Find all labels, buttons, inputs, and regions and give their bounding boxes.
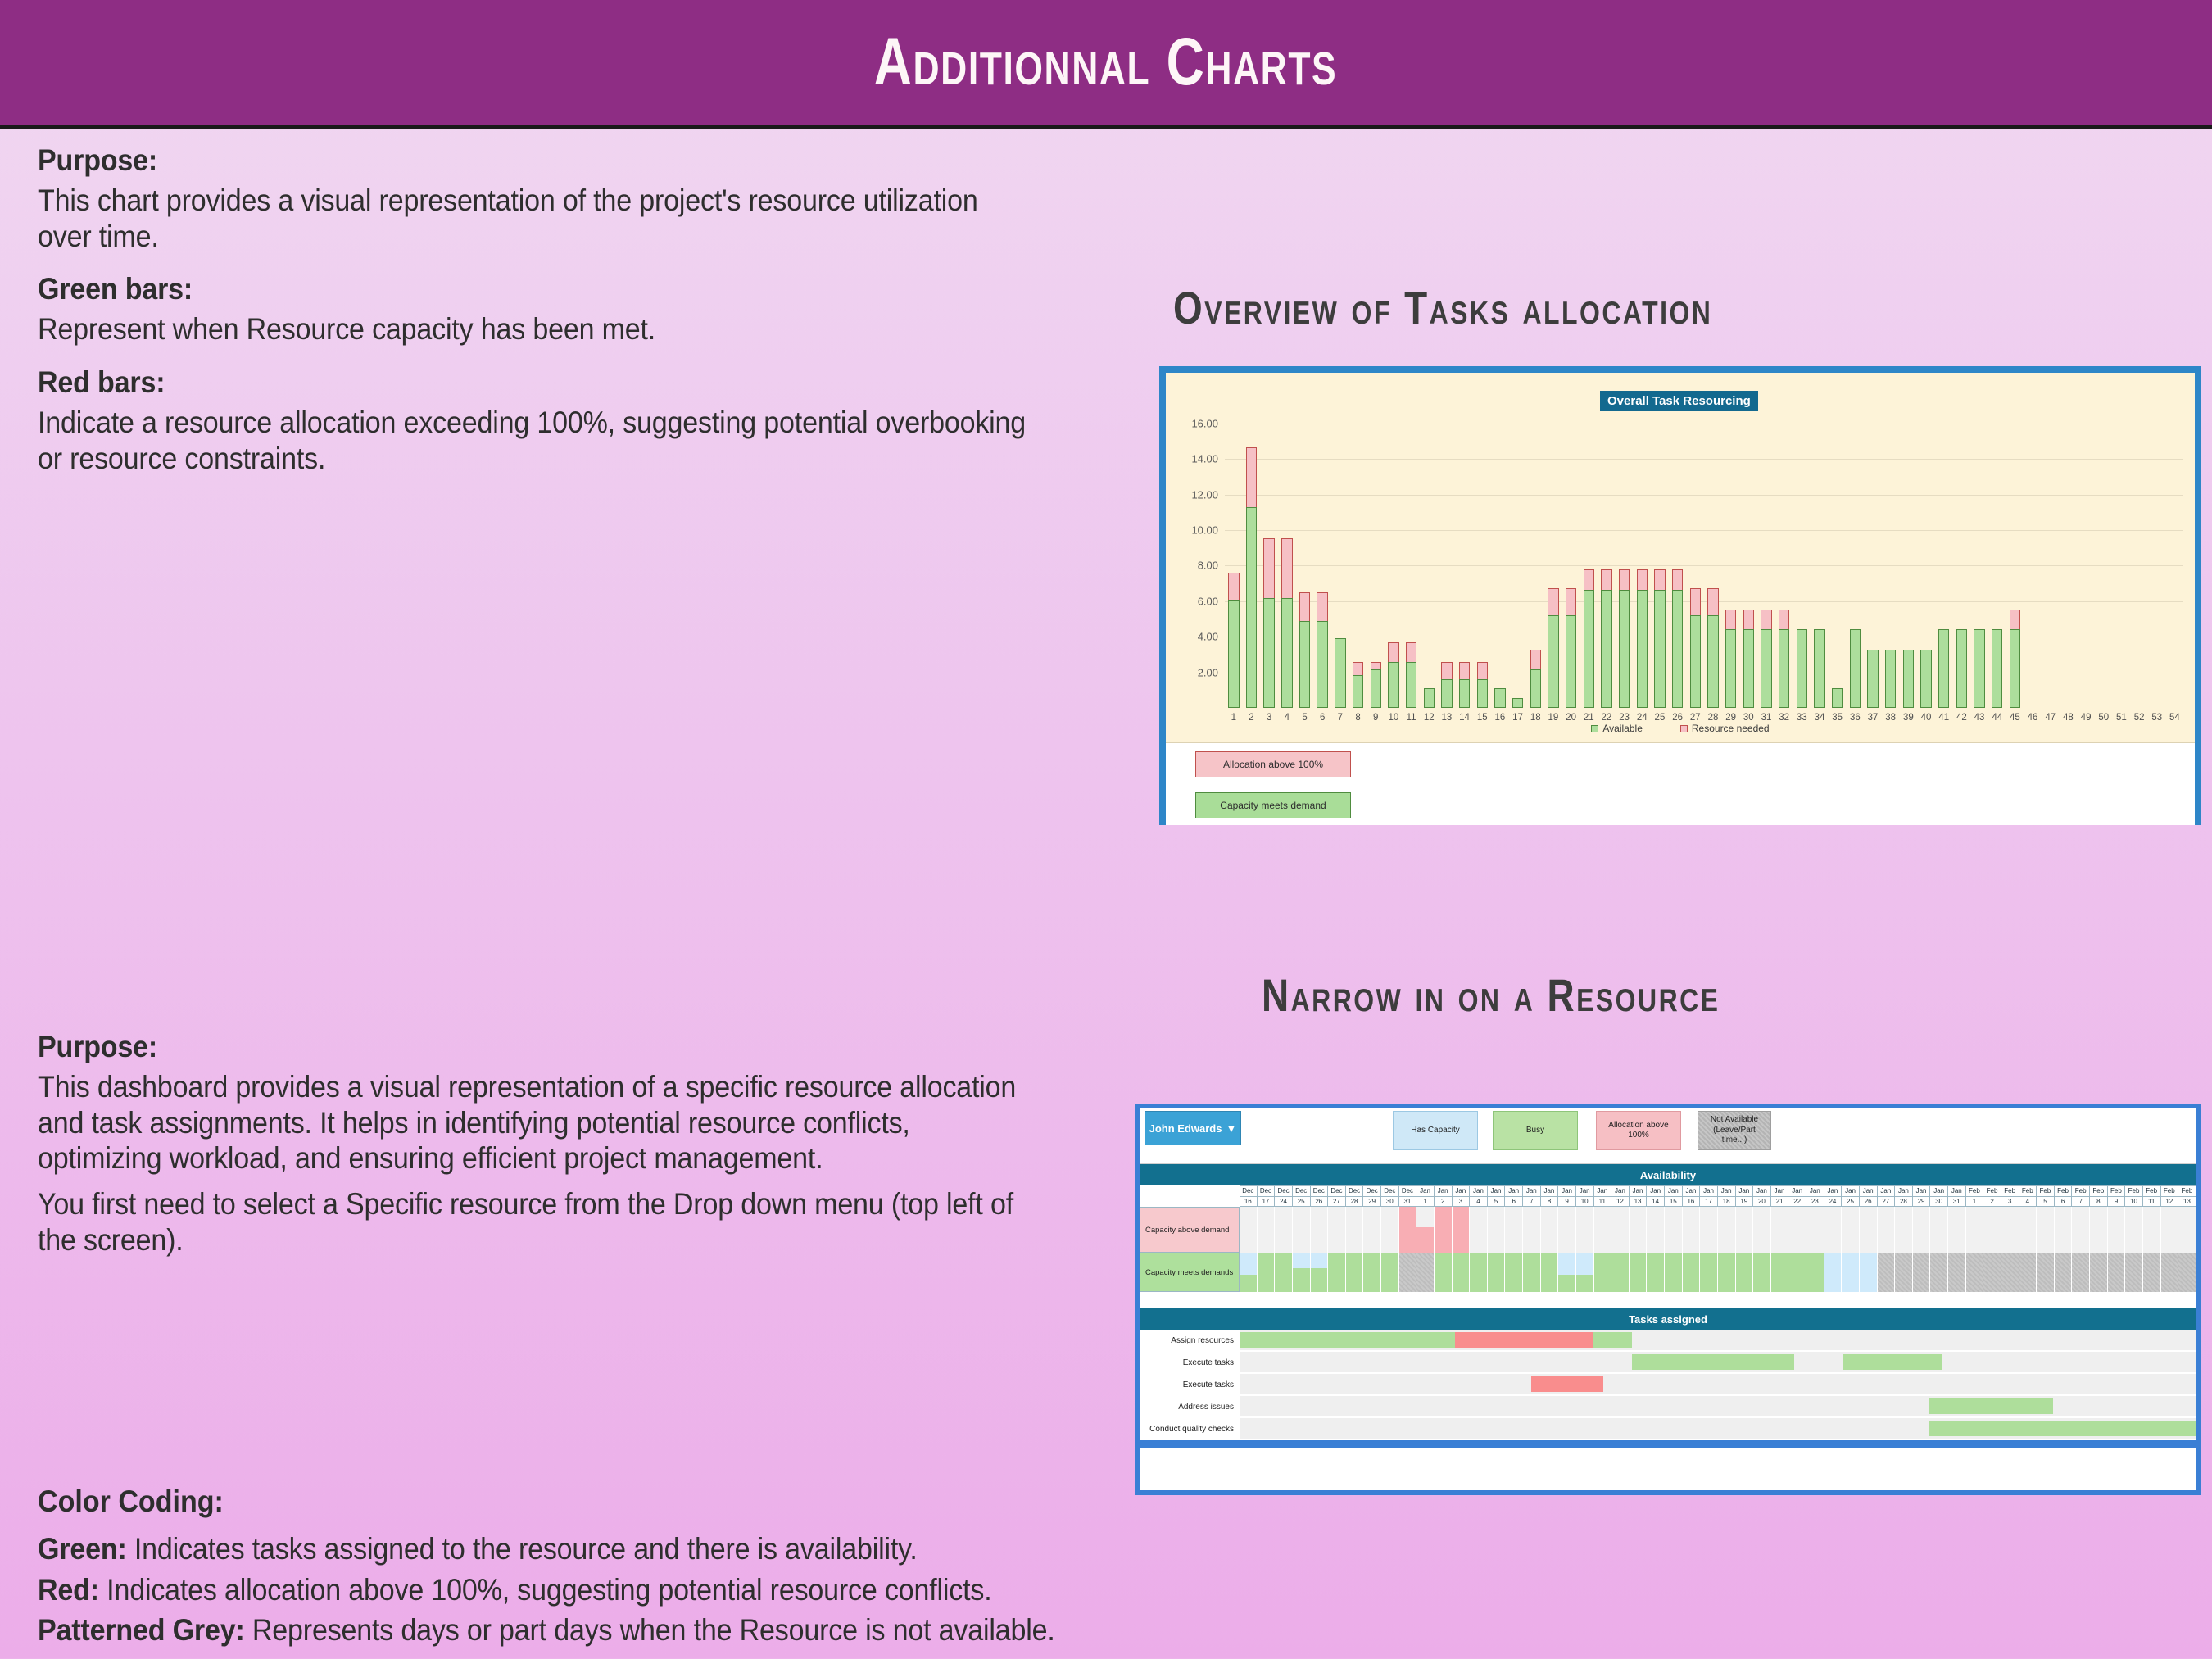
chart-bar-stack bbox=[1797, 629, 1807, 708]
color-coding-item-red: Red: Indicates allocation above 100%, su… bbox=[38, 1570, 1394, 1611]
date-header-cell: Feb13 bbox=[2178, 1185, 2196, 1207]
chart-bar-segment-resource-needed bbox=[1601, 569, 1611, 591]
chart-bar-slot: 41 bbox=[1935, 406, 1953, 708]
above-demand-fill bbox=[1453, 1207, 1470, 1253]
chart-bar-stack bbox=[1743, 610, 1754, 708]
red-bars-text: Indicate a resource allocation exceeding… bbox=[38, 405, 1032, 476]
date-header-cell: Jan28 bbox=[1895, 1185, 1913, 1207]
date-header-cell: Jan8 bbox=[1541, 1185, 1559, 1207]
chart-x-tick-label: 18 bbox=[1530, 713, 1541, 723]
chart-bar-stack bbox=[1548, 588, 1558, 708]
task-row: Execute tasks bbox=[1140, 1374, 2196, 1396]
above-demand-cell bbox=[2001, 1207, 2019, 1253]
chart-bar-slot: 23 bbox=[1616, 406, 1634, 708]
task-bar[interactable] bbox=[1531, 1376, 1603, 1392]
date-header-cell: Jan30 bbox=[1930, 1185, 1948, 1207]
chart-y-tick-label: 2.00 bbox=[1198, 666, 1218, 678]
color-coding-item-blue: Blue: This color shows when a resource h… bbox=[38, 1651, 1394, 1659]
chart-bar-slot: 19 bbox=[1544, 406, 1562, 708]
meets-demand-cell bbox=[1913, 1253, 1931, 1292]
chart-bar-slot: 54 bbox=[2166, 406, 2184, 708]
meets-demand-partial-fill bbox=[1311, 1268, 1328, 1292]
date-header-cell: Feb8 bbox=[2090, 1185, 2108, 1207]
meets-demand-cell bbox=[1895, 1253, 1913, 1292]
chart-bar-segment-available bbox=[1672, 590, 1683, 708]
chart-bar-stack bbox=[1566, 588, 1576, 708]
task-row-label: Address issues bbox=[1140, 1396, 1240, 1418]
cc-label-blue: Blue: bbox=[38, 1654, 107, 1659]
above-demand-cell bbox=[1611, 1207, 1630, 1253]
meets-demand-fill bbox=[1860, 1253, 1877, 1292]
chart-bar-segment-available bbox=[1246, 507, 1257, 708]
chart-bar-slot: 35 bbox=[1829, 406, 1847, 708]
legend-label-resource-needed: Resource needed bbox=[1692, 723, 1770, 734]
resource-dashboard-card: John Edwards ▼ Has Capacity Busy Allocat… bbox=[1135, 1104, 2201, 1495]
chart-x-tick-label: 33 bbox=[1797, 713, 1807, 723]
meets-demand-cell bbox=[2072, 1253, 2090, 1292]
meets-demand-fill bbox=[2161, 1253, 2178, 1292]
chart-bar-stack bbox=[1761, 610, 1771, 708]
chart-bar-slot: 51 bbox=[2113, 406, 2131, 708]
chart-x-tick-label: 17 bbox=[1512, 713, 1523, 723]
meets-demand-cell bbox=[1966, 1253, 1984, 1292]
task-row: Address issues bbox=[1140, 1396, 2196, 1418]
task-bar[interactable] bbox=[1455, 1332, 1593, 1348]
chart-y-tick-label: 4.00 bbox=[1198, 631, 1218, 643]
date-header-cell: Jan15 bbox=[1665, 1185, 1683, 1207]
date-header-cell: Feb3 bbox=[2001, 1185, 2019, 1207]
chart-bar-segment-available bbox=[1512, 698, 1523, 708]
meets-demand-fill bbox=[1700, 1253, 1717, 1292]
chart-x-tick-label: 38 bbox=[1885, 713, 1896, 723]
meets-demand-cell bbox=[2090, 1253, 2108, 1292]
date-header-cell: Dec28 bbox=[1346, 1185, 1364, 1207]
above-demand-cell bbox=[1860, 1207, 1878, 1253]
availability-band-header: Availability bbox=[1140, 1164, 2196, 1185]
above-demand-cell bbox=[1824, 1207, 1843, 1253]
chart-x-tick-label: 2 bbox=[1249, 713, 1253, 723]
chart-bar-stack bbox=[1814, 629, 1824, 708]
task-bar[interactable] bbox=[1843, 1354, 1943, 1370]
above-demand-cell bbox=[1505, 1207, 1523, 1253]
meets-demand-cell bbox=[2143, 1253, 2161, 1292]
chart-bar-slot: 37 bbox=[1864, 406, 1882, 708]
chart-bar-stack bbox=[2010, 610, 2020, 708]
chart-bar-segment-available bbox=[1299, 621, 1310, 708]
color-coding-item-grey: Patterned Grey: Represents days or part … bbox=[38, 1610, 1394, 1651]
legend-chip-allocation-label: Allocation above 100% bbox=[1600, 1121, 1677, 1141]
chart-bar-segment-resource-needed bbox=[1228, 573, 1239, 600]
meets-demand-fill bbox=[1275, 1253, 1292, 1292]
meets-demand-cell bbox=[1558, 1253, 1576, 1292]
meets-demand-fill bbox=[1806, 1253, 1824, 1292]
chart-plot-region: Overall Task Resourcing 2.004.006.008.00… bbox=[1166, 373, 2195, 743]
chart-bar-slot: 44 bbox=[1988, 406, 2006, 708]
chart-bar-slot: 16 bbox=[1491, 406, 1509, 708]
chart-bar-segment-resource-needed bbox=[1672, 569, 1683, 591]
chart-plot-area: 2.004.006.008.0010.0012.0014.0016.00 123… bbox=[1225, 406, 2183, 708]
chart-x-tick-label: 3 bbox=[1267, 713, 1271, 723]
chart-bar-slot: 10 bbox=[1385, 406, 1403, 708]
chart-x-tick-label: 46 bbox=[2028, 713, 2038, 723]
date-header-cell: Jan26 bbox=[1860, 1185, 1878, 1207]
chart-bar-segment-resource-needed bbox=[1548, 588, 1558, 615]
task-bar[interactable] bbox=[1593, 1332, 1632, 1348]
chart-bar-slot: 42 bbox=[1953, 406, 1971, 708]
chart-bar-slot: 11 bbox=[1403, 406, 1421, 708]
chart-footer-legend: Allocation above 100% Capacity meets dem… bbox=[1166, 743, 2195, 825]
chart-bar-segment-available bbox=[1424, 688, 1435, 708]
chart-x-tick-label: 35 bbox=[1832, 713, 1843, 723]
date-header-cell: Jan27 bbox=[1878, 1185, 1896, 1207]
chart-x-tick-label: 44 bbox=[1992, 713, 2002, 723]
chart-bar-segment-resource-needed bbox=[1281, 538, 1292, 598]
meets-demand-cell bbox=[1488, 1253, 1506, 1292]
chart-bar-segment-available bbox=[1903, 650, 1914, 708]
chart-x-tick-label: 27 bbox=[1690, 713, 1701, 723]
chart-bar-segment-available bbox=[1566, 615, 1576, 708]
cc-text-grey: Represents days or part days when the Re… bbox=[245, 1613, 1055, 1647]
task-bar[interactable] bbox=[1632, 1354, 1795, 1370]
chart-bar-segment-available bbox=[1584, 590, 1594, 708]
meets-demand-cell bbox=[1771, 1253, 1789, 1292]
task-track bbox=[1240, 1330, 2196, 1352]
chart-bar-segment-available bbox=[1530, 669, 1541, 708]
chart-bars: 1234567891011121314151617181920212223242… bbox=[1225, 406, 2183, 708]
task-track bbox=[1240, 1396, 2196, 1418]
chart-bar-slot: 40 bbox=[1917, 406, 1935, 708]
chart-x-tick-label: 12 bbox=[1424, 713, 1435, 723]
meets-demand-cell bbox=[1293, 1253, 1311, 1292]
meets-demand-cell bbox=[2161, 1253, 2179, 1292]
date-header-cell: Jan3 bbox=[1453, 1185, 1471, 1207]
meets-demand-cell bbox=[2037, 1253, 2055, 1292]
chart-x-tick-label: 40 bbox=[1921, 713, 1932, 723]
meets-demand-fill bbox=[1399, 1253, 1416, 1292]
chart-x-tick-label: 11 bbox=[1407, 713, 1416, 723]
chart-x-tick-label: 25 bbox=[1655, 713, 1666, 723]
meets-demand-fill bbox=[1948, 1253, 1965, 1292]
meets-demand-fill bbox=[1630, 1253, 1647, 1292]
resource-dropdown-label: John Edwards bbox=[1149, 1122, 1222, 1135]
chart-x-tick-label: 51 bbox=[2116, 713, 2127, 723]
date-header-cell: Jan5 bbox=[1488, 1185, 1506, 1207]
meets-demand-cell bbox=[1523, 1253, 1541, 1292]
meets-demand-fill bbox=[1824, 1253, 1842, 1292]
chart-bar-slot: 8 bbox=[1349, 406, 1367, 708]
overview-description-block: Purpose: This chart provides a visual re… bbox=[38, 143, 1119, 494]
chart-x-tick-label: 22 bbox=[1602, 713, 1612, 723]
meets-demand-fill bbox=[2055, 1253, 2072, 1292]
chart-bar-stack bbox=[1938, 629, 1949, 708]
chart-x-tick-label: 31 bbox=[1761, 713, 1772, 723]
chart-bar-stack bbox=[1477, 662, 1488, 708]
meets-demand-fill bbox=[2143, 1253, 2160, 1292]
chevron-down-icon: ▼ bbox=[1226, 1122, 1236, 1135]
chart-bar-segment-available bbox=[1832, 688, 1843, 708]
meets-demand-cell bbox=[1453, 1253, 1471, 1292]
meets-demand-cell bbox=[2001, 1253, 2019, 1292]
meets-demand-fill bbox=[1736, 1253, 1753, 1292]
chart-bar-segment-resource-needed bbox=[1299, 592, 1310, 621]
date-header-cell: Jan9 bbox=[1558, 1185, 1576, 1207]
chart-bar-slot: 20 bbox=[1562, 406, 1580, 708]
meets-demand-cell bbox=[1878, 1253, 1896, 1292]
meets-demand-fill bbox=[2037, 1253, 2054, 1292]
above-demand-cell bbox=[1381, 1207, 1399, 1253]
chart-bar-segment-resource-needed bbox=[1743, 610, 1754, 629]
meets-demand-fill bbox=[1541, 1253, 1558, 1292]
meets-demand-fill bbox=[2125, 1253, 2142, 1292]
meets-demand-cell bbox=[1753, 1253, 1771, 1292]
date-header-cell: Jan18 bbox=[1718, 1185, 1736, 1207]
task-bar[interactable] bbox=[1929, 1398, 2053, 1414]
purpose-text-top: This chart provides a visual representat… bbox=[38, 183, 1032, 254]
chart-bar-slot: 26 bbox=[1669, 406, 1687, 708]
chart-bar-slot: 49 bbox=[2077, 406, 2095, 708]
chart-x-tick-label: 48 bbox=[2063, 713, 2074, 723]
date-header-cell: Dec16 bbox=[1240, 1185, 1258, 1207]
color-coding-block: Color Coding: Green: Indicates tasks ass… bbox=[38, 1484, 1512, 1659]
chart-bar-stack bbox=[1228, 573, 1239, 708]
above-demand-cell bbox=[1258, 1207, 1276, 1253]
chart-bar-segment-resource-needed bbox=[1566, 588, 1576, 615]
legend-chip-not-available-label: Not Available bbox=[1711, 1115, 1758, 1126]
date-header-cell: Jan13 bbox=[1630, 1185, 1648, 1207]
above-demand-cells bbox=[1240, 1207, 2196, 1253]
date-header-cell: Feb9 bbox=[2108, 1185, 2126, 1207]
chart-x-tick-label: 53 bbox=[2151, 713, 2162, 723]
above-demand-cell bbox=[1275, 1207, 1293, 1253]
above-demand-cell bbox=[2037, 1207, 2055, 1253]
chart-bar-stack bbox=[1299, 592, 1310, 708]
meets-demand-cell bbox=[1806, 1253, 1824, 1292]
chart-bar-slot: 25 bbox=[1651, 406, 1669, 708]
section-divider bbox=[1140, 1292, 2196, 1308]
meets-demand-cell bbox=[1240, 1253, 1258, 1292]
chart-x-tick-label: 1 bbox=[1231, 713, 1236, 723]
chart-bar-stack bbox=[1707, 588, 1718, 708]
meets-demand-fill bbox=[2072, 1253, 2089, 1292]
chart-bar-slot: 34 bbox=[1811, 406, 1829, 708]
purpose-text-bottom: This dashboard provides a visual represe… bbox=[38, 1069, 1040, 1176]
chart-bar-stack bbox=[1867, 650, 1878, 708]
meets-demand-fill bbox=[1363, 1253, 1380, 1292]
tasks-assigned-rows: Assign resourcesExecute tasksExecute tas… bbox=[1140, 1330, 2196, 1440]
chart-bar-segment-available bbox=[1494, 688, 1505, 708]
above-demand-cell bbox=[1558, 1207, 1576, 1253]
meets-demand-fill bbox=[2019, 1253, 2037, 1292]
chart-bar-segment-available bbox=[1317, 621, 1327, 708]
date-header-cell: Dec17 bbox=[1258, 1185, 1276, 1207]
meets-demand-partial-fill bbox=[1293, 1268, 1310, 1292]
chart-bar-slot: 22 bbox=[1598, 406, 1616, 708]
chart-x-tick-label: 34 bbox=[1815, 713, 1825, 723]
chart-bar-slot: 47 bbox=[2042, 406, 2060, 708]
chart-x-tick-label: 8 bbox=[1355, 713, 1360, 723]
chart-legend: Available Resource needed bbox=[1166, 723, 2195, 734]
chart-bar-segment-available bbox=[1371, 669, 1381, 708]
section-heading-narrow: Narrow in on a Resource bbox=[1262, 968, 1720, 1022]
meets-demand-cell bbox=[1363, 1253, 1381, 1292]
availability-row-above-demand: Capacity above demand bbox=[1140, 1207, 2196, 1253]
chart-bar-slot: 6 bbox=[1313, 406, 1331, 708]
chart-x-tick-label: 45 bbox=[2010, 713, 2020, 723]
task-row-label: Assign resources bbox=[1140, 1330, 1240, 1352]
above-demand-cell bbox=[1346, 1207, 1364, 1253]
above-demand-cell bbox=[1788, 1207, 1806, 1253]
date-header-cell: Jan11 bbox=[1594, 1185, 1612, 1207]
chart-bar-slot: 9 bbox=[1367, 406, 1385, 708]
chart-bar-stack bbox=[1850, 629, 1861, 708]
above-demand-cell bbox=[2090, 1207, 2108, 1253]
chart-x-tick-label: 23 bbox=[1619, 713, 1630, 723]
task-row-label: Execute tasks bbox=[1140, 1352, 1240, 1374]
date-header-cell: Jan2 bbox=[1435, 1185, 1453, 1207]
date-header-cell: Jan29 bbox=[1913, 1185, 1931, 1207]
meets-demand-cell bbox=[2178, 1253, 2196, 1292]
cc-text-blue: This color shows when a resource has ava… bbox=[107, 1654, 717, 1659]
date-header-cell: Jan21 bbox=[1771, 1185, 1789, 1207]
meets-demand-cell bbox=[2019, 1253, 2037, 1292]
task-bar[interactable] bbox=[1240, 1332, 1455, 1348]
availability-row-meets-demand-label: Capacity meets demands bbox=[1140, 1253, 1240, 1292]
meets-demand-partial-fill bbox=[1576, 1275, 1593, 1293]
chart-y-tick-label: 10.00 bbox=[1191, 524, 1218, 536]
above-demand-cell bbox=[2125, 1207, 2143, 1253]
chart-bar-stack bbox=[1920, 650, 1931, 708]
above-demand-cell bbox=[1683, 1207, 1701, 1253]
chart-bar-segment-available bbox=[1637, 590, 1648, 708]
legend-swatch-available-icon bbox=[1591, 725, 1598, 732]
meets-demand-fill bbox=[1328, 1253, 1345, 1292]
chart-bar-segment-available bbox=[1761, 629, 1771, 708]
date-header-cell: Feb10 bbox=[2125, 1185, 2143, 1207]
chart-bar-stack bbox=[1725, 610, 1736, 708]
above-demand-cell bbox=[2143, 1207, 2161, 1253]
above-demand-cell bbox=[2108, 1207, 2126, 1253]
meets-demand-cell bbox=[1541, 1253, 1559, 1292]
availability-row-meets-demand: Capacity meets demands bbox=[1140, 1253, 2196, 1292]
chart-bar-stack bbox=[1281, 538, 1292, 708]
meets-demand-cell bbox=[1399, 1253, 1417, 1292]
chart-x-tick-label: 32 bbox=[1779, 713, 1789, 723]
chart-bar-slot: 52 bbox=[2130, 406, 2148, 708]
chart-bar-stack bbox=[1424, 688, 1435, 708]
date-header-cell: Dec27 bbox=[1328, 1185, 1346, 1207]
chart-x-tick-label: 10 bbox=[1388, 713, 1398, 723]
date-header-cell: Jan17 bbox=[1700, 1185, 1718, 1207]
chart-x-tick-label: 41 bbox=[1938, 713, 1949, 723]
chart-x-tick-label: 54 bbox=[2169, 713, 2180, 723]
chart-bar-stack bbox=[1335, 638, 1345, 708]
chart-bar-slot: 21 bbox=[1580, 406, 1598, 708]
chart-bar-segment-resource-needed bbox=[1725, 610, 1736, 629]
meets-demand-cell bbox=[1328, 1253, 1346, 1292]
chart-y-tick-label: 12.00 bbox=[1191, 488, 1218, 501]
chip-capacity-meets-demand: Capacity meets demand bbox=[1195, 792, 1351, 818]
meets-demand-cell bbox=[1594, 1253, 1612, 1292]
meets-demand-fill bbox=[1665, 1253, 1682, 1292]
meets-demand-cell bbox=[1948, 1253, 1966, 1292]
date-header-cell: Jan1 bbox=[1416, 1185, 1435, 1207]
above-demand-cell bbox=[1293, 1207, 1311, 1253]
chart-bar-slot: 38 bbox=[1882, 406, 1900, 708]
chart-bar-segment-available bbox=[1797, 629, 1807, 708]
chart-bar-slot: 30 bbox=[1739, 406, 1757, 708]
chart-x-tick-label: 37 bbox=[1868, 713, 1879, 723]
meets-demand-partial-fill bbox=[1240, 1275, 1257, 1293]
chart-bar-segment-available bbox=[2010, 629, 2020, 708]
chart-bar-slot: 48 bbox=[2060, 406, 2078, 708]
chart-bar-segment-available bbox=[1707, 615, 1718, 708]
meets-demand-fill bbox=[1647, 1253, 1664, 1292]
chart-bar-slot: 18 bbox=[1526, 406, 1544, 708]
chart-bar-stack bbox=[1601, 569, 1611, 708]
resource-dropdown[interactable]: John Edwards ▼ bbox=[1145, 1111, 1241, 1145]
legend-chip-has-capacity: Has Capacity bbox=[1393, 1111, 1478, 1150]
chart-bar-slot: 53 bbox=[2148, 406, 2166, 708]
chart-bar-segment-available bbox=[1654, 590, 1665, 708]
meets-demand-cell bbox=[1381, 1253, 1399, 1292]
chart-bar-stack bbox=[1246, 447, 1257, 708]
chart-bar-stack bbox=[1637, 569, 1648, 708]
chart-bar-segment-resource-needed bbox=[2010, 610, 2020, 629]
meets-demand-fill bbox=[2108, 1253, 2125, 1292]
purpose-text-bottom-2: You first need to select a Specific reso… bbox=[38, 1186, 1040, 1258]
availability-row-above-demand-label: Capacity above demand bbox=[1140, 1207, 1240, 1253]
meets-demand-cell bbox=[1258, 1253, 1276, 1292]
meets-demand-fill bbox=[1913, 1253, 1930, 1292]
cc-text-red: Indicates allocation above 100%, suggest… bbox=[99, 1573, 992, 1607]
chart-bar-stack bbox=[1388, 642, 1398, 708]
chart-bar-slot: 15 bbox=[1473, 406, 1491, 708]
date-header-cell: Feb5 bbox=[2037, 1185, 2055, 1207]
above-demand-cell bbox=[1541, 1207, 1559, 1253]
chart-x-tick-label: 7 bbox=[1338, 713, 1343, 723]
chart-bar-slot: 32 bbox=[1775, 406, 1793, 708]
meets-demand-partial-fill bbox=[1416, 1253, 1434, 1292]
legend-chip-not-available-sub: (Leave/Part time...) bbox=[1702, 1126, 1767, 1146]
chart-bar-stack bbox=[1459, 662, 1470, 708]
meets-demand-cell bbox=[1346, 1253, 1364, 1292]
task-row: Conduct quality checks bbox=[1140, 1418, 2196, 1440]
meets-demand-cell bbox=[1683, 1253, 1701, 1292]
chart-bar-segment-resource-needed bbox=[1317, 592, 1327, 621]
above-demand-cell bbox=[1806, 1207, 1824, 1253]
color-coding-item-green: Green: Indicates tasks assigned to the r… bbox=[38, 1529, 1394, 1570]
date-header-cell: Dec24 bbox=[1275, 1185, 1293, 1207]
date-header-cell: Feb7 bbox=[2072, 1185, 2090, 1207]
meets-demand-cell bbox=[1611, 1253, 1630, 1292]
meets-demand-cells bbox=[1240, 1253, 2196, 1292]
chart-bar-slot: 24 bbox=[1633, 406, 1651, 708]
chart-bar-segment-resource-needed bbox=[1619, 569, 1630, 591]
chart-bar-segment-resource-needed bbox=[1654, 569, 1665, 591]
task-bar[interactable] bbox=[1929, 1421, 2201, 1436]
chart-bar-segment-resource-needed bbox=[1263, 538, 1274, 598]
above-demand-cell bbox=[1718, 1207, 1736, 1253]
meets-demand-fill bbox=[1611, 1253, 1629, 1292]
chart-bar-segment-available bbox=[1779, 629, 1789, 708]
meets-demand-cell bbox=[2055, 1253, 2073, 1292]
chart-bar-slot: 39 bbox=[1900, 406, 1918, 708]
chart-bar-segment-available bbox=[1459, 679, 1470, 708]
chart-bar-slot: 31 bbox=[1757, 406, 1775, 708]
chart-bar-slot: 2 bbox=[1243, 406, 1261, 708]
meets-demand-fill bbox=[1470, 1253, 1487, 1292]
chart-x-tick-label: 16 bbox=[1495, 713, 1506, 723]
